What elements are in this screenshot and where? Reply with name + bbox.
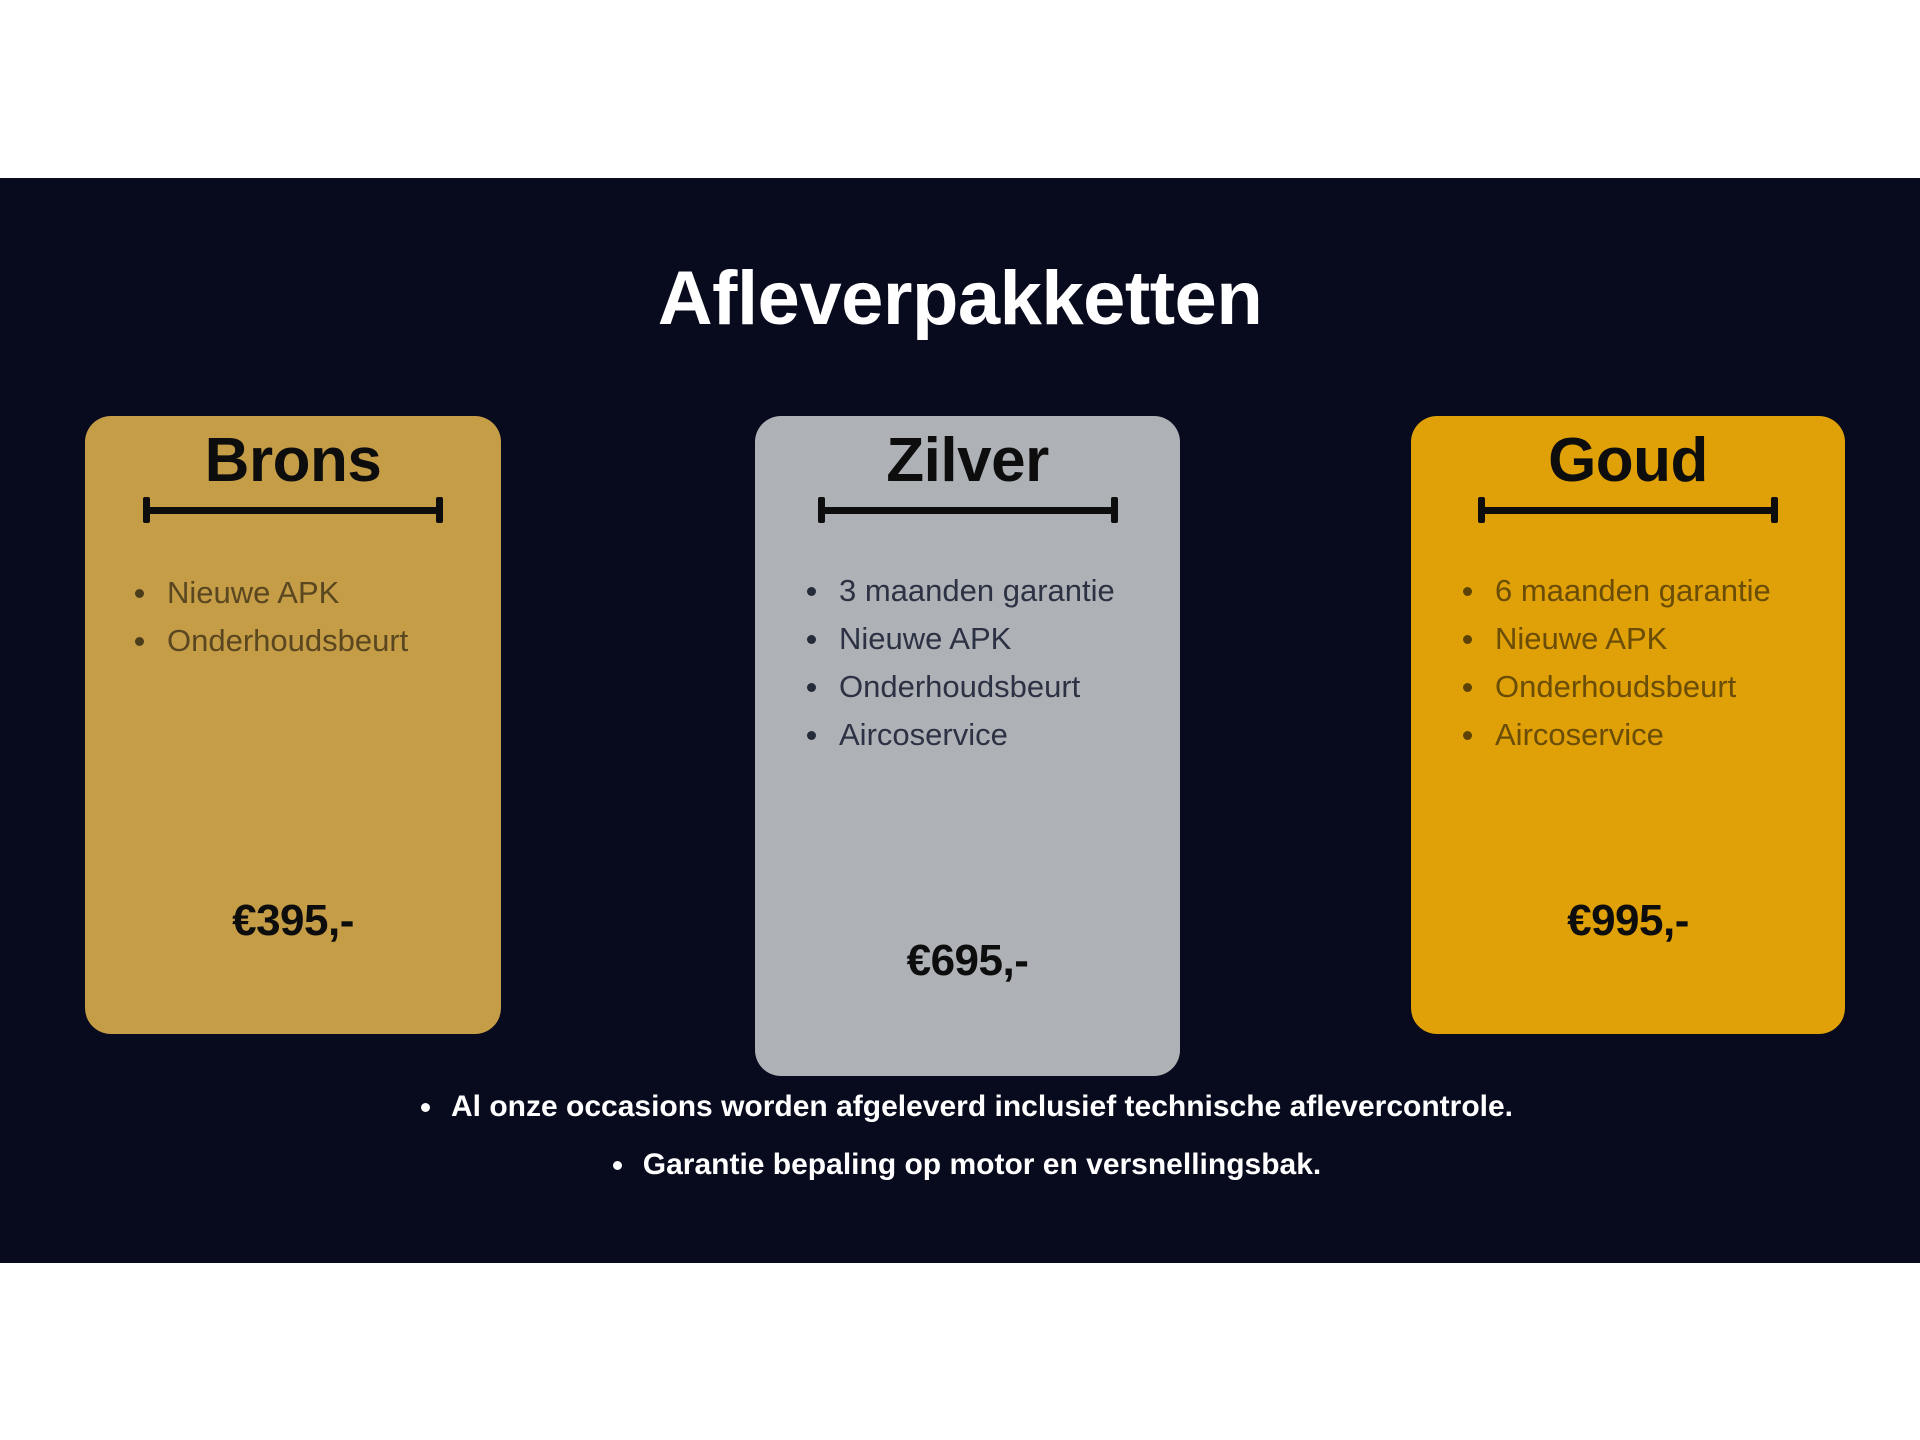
feature-label: 6 maanden garantie [1495, 573, 1771, 608]
feature-list-zilver: 3 maanden garantie Nieuwe APK Onderhouds… [755, 567, 1180, 759]
package-price-zilver: €695,- [755, 936, 1180, 986]
feature-label: Onderhoudsbeurt [1495, 669, 1736, 704]
feature-label: Onderhoudsbeurt [167, 623, 408, 658]
package-name-zilver: Zilver [755, 426, 1180, 495]
package-card-zilver[interactable]: Zilver 3 maanden garantie Nieuwe APK [755, 416, 1180, 1076]
package-card-header: Zilver [755, 416, 1180, 523]
package-name-brons: Brons [85, 426, 501, 495]
feature-label: 3 maanden garantie [839, 573, 1115, 608]
bullet-icon [1463, 587, 1472, 596]
feature-list-brons: Nieuwe APK Onderhoudsbeurt [85, 569, 501, 665]
slide-stage: Afleverpakketten Brons Nieuwe APK [0, 178, 1920, 1263]
feature-label: Nieuwe APK [1495, 621, 1667, 656]
feature-label: Onderhoudsbeurt [839, 669, 1080, 704]
feature-label: Aircoservice [839, 717, 1008, 752]
list-item: Aircoservice [801, 711, 1180, 759]
bullet-icon [1463, 731, 1472, 740]
bullet-icon [807, 587, 816, 596]
dimension-bar-icon [818, 507, 1118, 514]
list-item: Onderhoudsbeurt [1457, 663, 1845, 711]
dimension-bar-icon [1478, 507, 1778, 514]
footer-note-label: Al onze occasions worden afgeleverd incl… [451, 1090, 1513, 1123]
feature-label: Aircoservice [1495, 717, 1664, 752]
footer-row: Al onze occasions worden afgeleverd incl… [0, 1078, 1920, 1136]
dimension-rule-icon [818, 497, 1118, 523]
list-item: Onderhoudsbeurt [801, 663, 1180, 711]
package-card-header: Brons [85, 416, 501, 523]
list-item: Nieuwe APK [1457, 615, 1845, 663]
bullet-icon [613, 1161, 622, 1170]
package-card-goud[interactable]: Goud 6 maanden garantie Nieuwe APK [1411, 416, 1845, 1034]
bullet-icon [807, 731, 816, 740]
footer-notes: Al onze occasions worden afgeleverd incl… [0, 1078, 1920, 1194]
bullet-icon [421, 1103, 430, 1112]
bullet-icon [1463, 683, 1472, 692]
dimension-cap-right-icon [1111, 497, 1118, 523]
footer-note: Al onze occasions worden afgeleverd incl… [407, 1078, 1513, 1136]
footer-note: Garantie bepaling op motor en versnellin… [599, 1136, 1322, 1194]
package-card-brons[interactable]: Brons Nieuwe APK Onderhoudsbeurt [85, 416, 501, 1034]
dimension-cap-right-icon [1771, 497, 1778, 523]
list-item: Nieuwe APK [129, 569, 501, 617]
feature-label: Nieuwe APK [839, 621, 1011, 656]
footer-note-label: Garantie bepaling op motor en versnellin… [643, 1148, 1322, 1181]
bullet-icon [1463, 635, 1472, 644]
dimension-rule-icon [143, 497, 443, 523]
dimension-rule-icon [1478, 497, 1778, 523]
bullet-icon [807, 635, 816, 644]
package-price-brons: €395,- [85, 896, 501, 946]
package-name-goud: Goud [1411, 426, 1845, 495]
feature-label: Nieuwe APK [167, 575, 339, 610]
feature-list-goud: 6 maanden garantie Nieuwe APK Onderhouds… [1411, 567, 1845, 759]
list-item: 3 maanden garantie [801, 567, 1180, 615]
list-item: Aircoservice [1457, 711, 1845, 759]
list-item: Nieuwe APK [801, 615, 1180, 663]
footer-row: Garantie bepaling op motor en versnellin… [0, 1136, 1920, 1194]
dimension-cap-right-icon [436, 497, 443, 523]
dimension-bar-icon [143, 507, 443, 514]
list-item: Onderhoudsbeurt [129, 617, 501, 665]
list-item: 6 maanden garantie [1457, 567, 1845, 615]
bullet-icon [135, 637, 144, 646]
bullet-icon [135, 589, 144, 598]
bullet-icon [807, 683, 816, 692]
slide-page: Afleverpakketten Brons Nieuwe APK [0, 0, 1920, 1440]
package-card-header: Goud [1411, 416, 1845, 523]
package-price-goud: €995,- [1411, 896, 1845, 946]
